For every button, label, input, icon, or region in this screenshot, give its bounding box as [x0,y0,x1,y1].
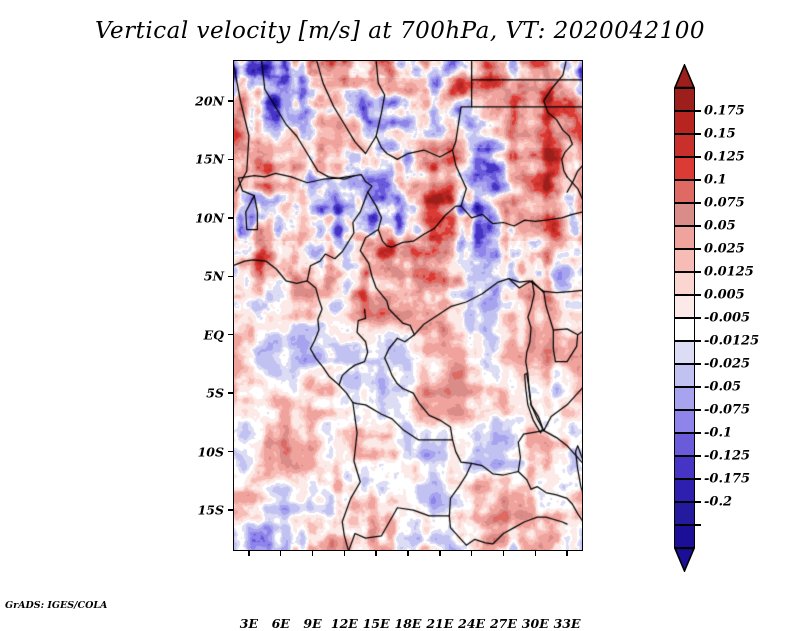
page-title: Vertical velocity [m/s] at 700hPa, VT: 2… [0,18,800,44]
x-tick-label: 18E [395,616,422,631]
colorbar-tick [695,363,701,365]
colorbar-tick [695,409,701,411]
colorbar-segment [674,456,695,479]
colorbar-tick [695,524,701,526]
x-tick-label: 9E [303,616,321,631]
colorbar-segment [674,226,695,249]
colorbar-label: 0.15 [704,127,736,142]
colorbar-tick [695,294,701,296]
colorbar-label: -0.025 [704,357,750,372]
colorbar-label: 0.0125 [704,265,754,280]
x-tick-label: 12E [331,616,358,631]
colorbar-segment [674,272,695,295]
x-tick [503,551,504,556]
colorbar-segment [674,318,695,341]
y-tick [228,392,233,393]
x-tick-label: 30E [522,616,549,631]
colorbar-tick [695,133,701,135]
x-tick [344,551,345,556]
colorbar-label: 0.175 [704,104,745,119]
colorbar-tick [695,225,701,227]
colorbar-segment [674,433,695,456]
y-tick-label: 5S [206,386,224,401]
colorbar-segment [674,364,695,387]
colorbar-label: 0.05 [704,219,736,234]
x-tick [312,551,313,556]
colorbar-segment [674,157,695,180]
y-tick-label: 20N [195,93,224,108]
colorbar-label: -0.05 [704,380,741,395]
colorbar-tick [695,455,701,457]
x-tick [535,551,536,556]
x-tick [566,551,567,556]
colorbar-tick [695,317,701,319]
y-tick-label: 10S [198,444,224,459]
y-tick [228,334,233,335]
colorbar-segment [674,502,695,525]
y-tick [228,451,233,452]
colorbar-segment [674,203,695,226]
colorbar-segment [674,479,695,502]
colorbar-segment [674,341,695,364]
colorbar-segment [674,295,695,318]
x-tick-label: 21E [426,616,453,631]
colorbar-label: -0.005 [704,311,750,326]
y-tick [228,509,233,510]
colorbar-label: -0.075 [704,403,750,418]
y-tick [228,159,233,160]
map-plot-area: 3E6E9E12E15E18E21E24E27E30E33E 20N15N10N… [233,60,583,551]
y-tick-label: 5N [204,269,224,284]
y-tick-label: 10N [195,210,224,225]
colorbar-tick [695,156,701,158]
x-tick-label: 33E [554,616,581,631]
x-tick-label: 24E [458,616,485,631]
colorbar-tick [695,179,701,181]
y-tick-label: EQ [204,327,224,342]
y-tick [228,100,233,101]
colorbar-label: -0.2 [704,495,732,510]
colorbar-tick [695,110,701,112]
colorbar-label: 0.005 [704,288,745,303]
x-tick [248,551,249,556]
colorbar-label: -0.125 [704,449,750,464]
vertical-velocity-field [233,60,583,551]
y-tick [228,276,233,277]
colorbar-segment [674,387,695,410]
colorbar-label: -0.175 [704,472,750,487]
x-tick [407,551,408,556]
colorbar-tick [695,386,701,388]
y-tick-label: 15S [198,503,224,518]
colorbar-arrow-bottom [674,548,695,572]
x-tick [375,551,376,556]
x-tick [280,551,281,556]
colorbar-tick [695,202,701,204]
colorbar-tick [695,340,701,342]
colorbar-segment [674,410,695,433]
colorbar-label: 0.025 [704,242,745,257]
colorbar-segment [674,180,695,203]
x-tick-label: 27E [490,616,517,631]
x-tick [471,551,472,556]
colorbar-tick [695,478,701,480]
colorbar-segment [674,249,695,272]
colorbar-label: -0.0125 [704,334,759,349]
colorbar-segment [674,111,695,134]
x-tick-label: 6E [272,616,290,631]
colorbar-tick [695,271,701,273]
colorbar-segment [674,525,695,548]
colorbar-label: 0.1 [704,173,727,188]
x-tick-label: 15E [363,616,390,631]
y-tick-label: 15N [195,152,224,167]
colorbar-label: 0.075 [704,196,745,211]
colorbar-arrow-top [674,64,695,88]
colorbar-segment [674,88,695,111]
grads-credit: GrADS: IGES/COLA [5,600,107,611]
colorbar-tick [695,432,701,434]
x-tick-label: 3E [240,616,258,631]
y-tick [228,217,233,218]
colorbar: 0.1750.150.1250.10.0750.050.0250.01250.0… [674,60,794,560]
colorbar-label: 0.125 [704,150,745,165]
x-tick [439,551,440,556]
colorbar-label: -0.1 [704,426,732,441]
colorbar-segment [674,134,695,157]
colorbar-tick [695,248,701,250]
colorbar-tick [695,501,701,503]
